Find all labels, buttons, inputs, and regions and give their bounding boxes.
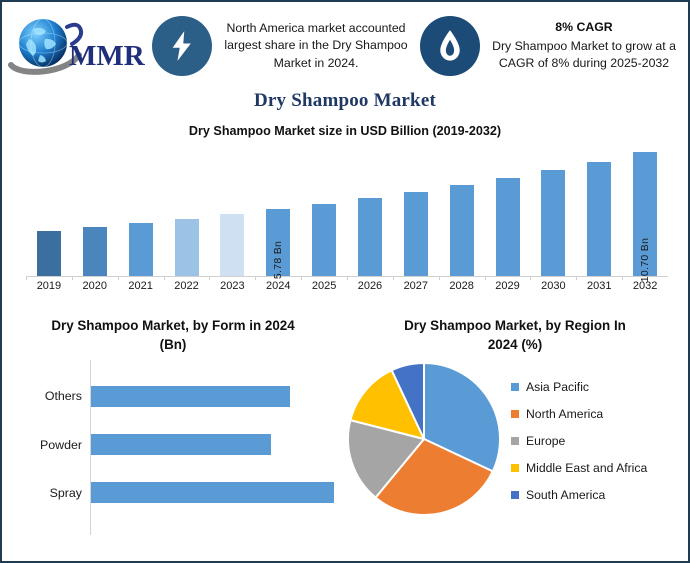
legend-label: Europe xyxy=(526,434,565,448)
x-tick-2022: 2022 xyxy=(164,280,210,292)
legend-label: North America xyxy=(526,407,603,421)
x-tick-2031: 2031 xyxy=(576,280,622,292)
region-chart-title-line2: 2024 (%) xyxy=(488,337,542,352)
x-tick-2029: 2029 xyxy=(485,280,531,292)
infographic-root: MMR North America market accounted large… xyxy=(0,0,690,563)
bar-column-2021 xyxy=(118,142,164,276)
bar-column-2030 xyxy=(530,142,576,276)
bar-2026 xyxy=(358,198,382,276)
legend-item-asia-pacific: Asia Pacific xyxy=(511,380,682,394)
bar-column-2019 xyxy=(26,142,72,276)
legend-label: Middle East and Africa xyxy=(526,461,647,475)
page-title: Dry Shampoo Market xyxy=(2,90,688,112)
legend-swatch-icon xyxy=(511,491,519,499)
form-bar-powder xyxy=(91,434,271,455)
svg-text:MMR: MMR xyxy=(69,40,146,72)
x-tick-2020: 2020 xyxy=(72,280,118,292)
region-chart-body: Asia PacificNorth AmericaEuropeMiddle Ea… xyxy=(342,358,682,520)
bar-2030 xyxy=(541,170,565,276)
form-chart-plot: OthersPowderSpray xyxy=(12,360,334,535)
bar-column-2029 xyxy=(485,142,531,276)
bar-2023 xyxy=(220,214,244,276)
bar-column-2027 xyxy=(393,142,439,276)
x-tick-2026: 2026 xyxy=(347,280,393,292)
globe-icon: MMR xyxy=(7,15,147,77)
bar-column-2022 xyxy=(164,142,210,276)
bar-chart-title: Dry Shampoo Market size in USD Billion (… xyxy=(8,124,682,138)
region-chart-title: Dry Shampoo Market, by Region In 2024 (%… xyxy=(348,316,682,354)
legend-swatch-icon xyxy=(511,464,519,472)
legend-item-europe: Europe xyxy=(511,434,682,448)
x-tick-2025: 2025 xyxy=(301,280,347,292)
lightning-bolt-badge xyxy=(152,16,212,76)
right-blurb-block: 8% CAGR Dry Shampoo Market to grow at a … xyxy=(480,19,688,72)
legend-item-middle-east-and-africa: Middle East and Africa xyxy=(511,461,682,475)
bar-column-2024: 5.78 Bn xyxy=(255,142,301,276)
form-chart-title-line1: Dry Shampoo Market, by Form in 2024 xyxy=(51,318,294,333)
region-pie-legend: Asia PacificNorth AmericaEuropeMiddle Ea… xyxy=(507,358,682,515)
bar-column-2025 xyxy=(301,142,347,276)
form-category-powder: Powder xyxy=(12,438,90,452)
bar-2031 xyxy=(587,162,611,276)
lower-section: Dry Shampoo Market, by Form in 2024 (Bn)… xyxy=(2,312,688,561)
x-tick-2028: 2028 xyxy=(439,280,485,292)
bar-value-label-2024: 5.78 Bn xyxy=(272,241,284,279)
x-tick-2023: 2023 xyxy=(209,280,255,292)
region-pie-wrap xyxy=(342,358,507,520)
bar-2019 xyxy=(37,231,61,276)
legend-swatch-icon xyxy=(511,383,519,391)
bar-2032: 10.70 Bn xyxy=(633,152,657,276)
water-drop-badge xyxy=(420,16,480,76)
mmr-logo: MMR xyxy=(2,6,152,86)
legend-swatch-icon xyxy=(511,410,519,418)
market-by-form-chart: Dry Shampoo Market, by Form in 2024 (Bn)… xyxy=(2,312,342,561)
bar-column-2031 xyxy=(576,142,622,276)
cagr-heading: 8% CAGR xyxy=(486,19,682,36)
bar-column-2028 xyxy=(439,142,485,276)
market-size-bar-chart: Dry Shampoo Market size in USD Billion (… xyxy=(8,124,682,306)
x-tick-2019: 2019 xyxy=(26,280,72,292)
bar-column-2020 xyxy=(72,142,118,276)
legend-item-north-america: North America xyxy=(511,407,682,421)
lightning-bolt-icon xyxy=(165,29,199,63)
bar-2021 xyxy=(129,223,153,276)
water-drop-icon xyxy=(435,29,465,63)
form-bar-spray xyxy=(91,482,334,503)
bar-2027 xyxy=(404,192,428,276)
bar-column-2023 xyxy=(209,142,255,276)
bar-2022 xyxy=(175,219,199,276)
form-chart-title-line2: (Bn) xyxy=(160,337,187,352)
legend-label: Asia Pacific xyxy=(526,380,589,394)
x-tick-2030: 2030 xyxy=(530,280,576,292)
bar-2029 xyxy=(496,178,520,276)
x-tick-2027: 2027 xyxy=(393,280,439,292)
legend-item-south-america: South America xyxy=(511,488,682,502)
bar-2020 xyxy=(83,227,107,276)
market-by-region-chart: Dry Shampoo Market, by Region In 2024 (%… xyxy=(342,312,688,561)
form-chart-bars xyxy=(90,360,334,535)
form-chart-categories: OthersPowderSpray xyxy=(12,360,90,535)
bar-column-2032: 10.70 Bn xyxy=(622,142,668,276)
bar-chart-plot: 5.78 Bn10.70 Bn xyxy=(26,142,668,277)
region-pie-svg xyxy=(345,360,505,520)
legend-swatch-icon xyxy=(511,437,519,445)
bar-column-2026 xyxy=(347,142,393,276)
x-tick-2024: 2024 xyxy=(255,280,301,292)
left-blurb: North America market accounted largest s… xyxy=(212,20,420,72)
form-bar-others xyxy=(91,386,290,407)
x-tick-2021: 2021 xyxy=(118,280,164,292)
region-chart-title-line1: Dry Shampoo Market, by Region In xyxy=(404,318,626,333)
bar-value-label-2032: 10.70 Bn xyxy=(639,238,651,282)
cagr-description: Dry Shampoo Market to grow at a CAGR of … xyxy=(492,39,676,70)
bar-chart-x-axis: 2019202020212022202320242025202620272028… xyxy=(26,280,668,292)
bar-2024: 5.78 Bn xyxy=(266,209,290,276)
bar-2028 xyxy=(450,185,474,276)
legend-label: South America xyxy=(526,488,605,502)
form-category-others: Others xyxy=(12,389,90,403)
header-band: MMR North America market accounted large… xyxy=(2,2,688,90)
form-chart-title: Dry Shampoo Market, by Form in 2024 (Bn) xyxy=(12,316,334,354)
form-category-spray: Spray xyxy=(12,486,90,500)
bar-2025 xyxy=(312,204,336,276)
